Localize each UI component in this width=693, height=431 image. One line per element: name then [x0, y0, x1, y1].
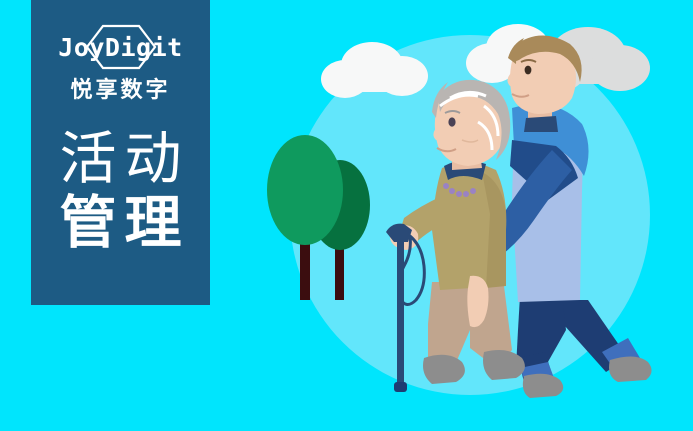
logo-wordmark: JoyDigit — [58, 35, 182, 60]
brand-panel: JoyDigit 悦享数字 活动 管理 — [31, 0, 210, 305]
young-man-eye — [525, 66, 532, 75]
logo-chinese-name: 悦享数字 — [70, 79, 170, 101]
elderly-woman-eye — [448, 117, 455, 126]
poster-canvas: JoyDigit 悦享数字 活动 管理 — [0, 0, 693, 431]
logo-lockup: JoyDigit — [47, 24, 195, 70]
title-line-1: 活动 — [52, 127, 190, 191]
title-line-2: 管理 — [52, 191, 190, 255]
page-title: 活动 管理 — [52, 127, 190, 255]
young-man-collar — [524, 116, 558, 132]
